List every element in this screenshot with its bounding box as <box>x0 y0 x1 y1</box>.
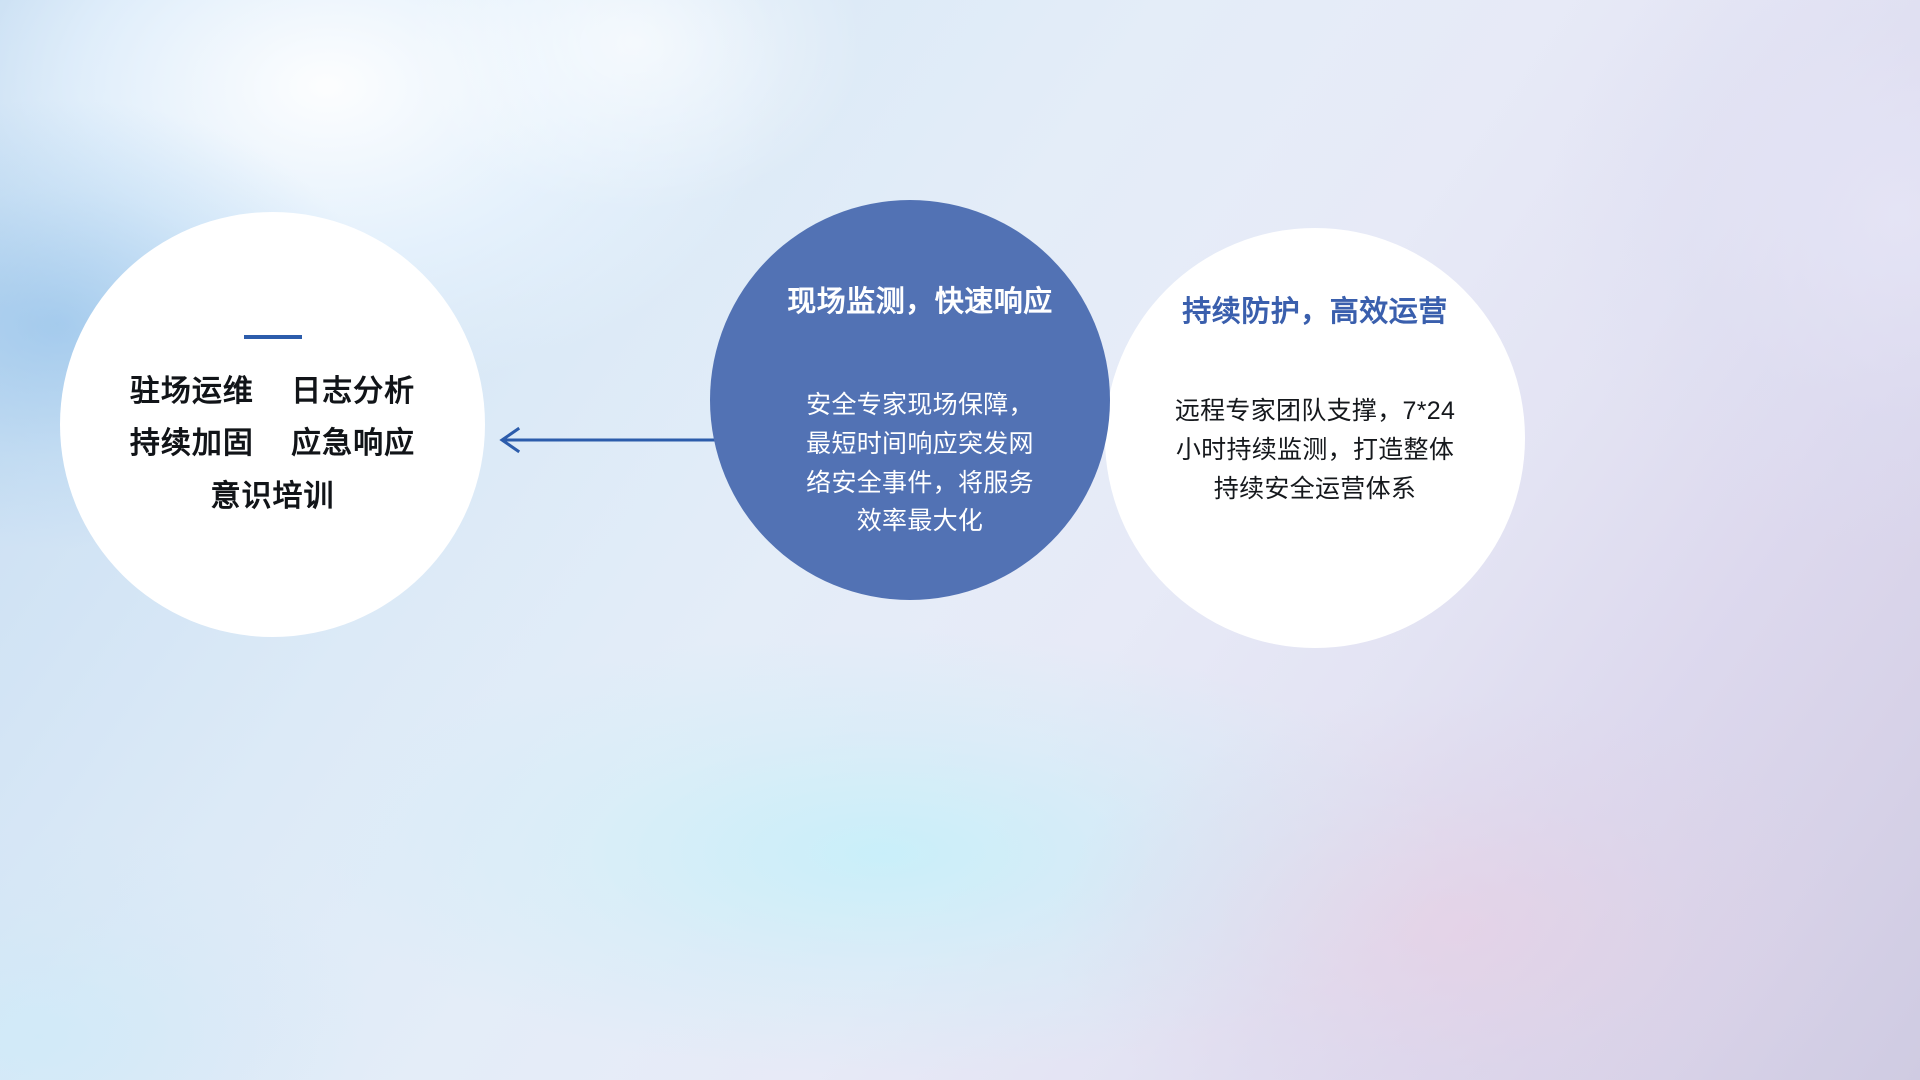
left-circle-line-3: 意识培训 <box>211 480 335 515</box>
left-circle-line-1: 驻场运维 日志分析 <box>130 375 415 410</box>
slide-canvas: 驻场运维 日志分析 持续加固 应急响应 意识培训 现场监测，快速响应 安全专家现… <box>0 0 1920 1080</box>
right-operations-circle <box>1105 228 1525 648</box>
left-circle-line-2: 持续加固 应急响应 <box>130 427 415 462</box>
left-service-circle: 驻场运维 日志分析 持续加固 应急响应 意识培训 <box>60 212 485 637</box>
mid-onsite-circle <box>710 200 1110 600</box>
left-arrow-icon <box>480 418 730 462</box>
left-circle-text-block: 驻场运维 日志分析 持续加固 应急响应 意识培训 <box>130 375 415 515</box>
connector-arrow <box>480 418 730 462</box>
accent-dash-divider <box>244 335 302 339</box>
